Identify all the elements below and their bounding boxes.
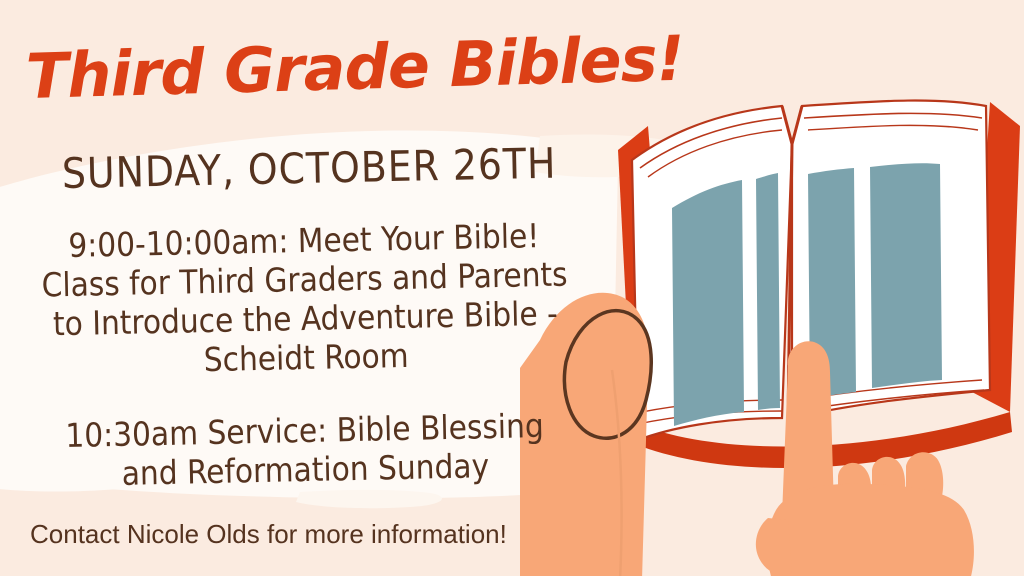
contact-line: Contact Nicole Olds for more information… — [30, 519, 590, 550]
text-column: Third Grade Bibles! SUNDAY, OCTOBER 26TH… — [0, 0, 600, 576]
event-one-details: 9:00-10:00am: Meet Your Bible! Class for… — [18, 216, 591, 384]
poster-canvas: Third Grade Bibles! SUNDAY, OCTOBER 26TH… — [0, 0, 1024, 576]
page-title: Third Grade Bibles! — [25, 30, 602, 108]
event-date: SUNDAY, OCTOBER 26TH — [62, 141, 583, 196]
event-two-details: 10:30am Service: Bible Blessing and Refo… — [19, 406, 591, 496]
